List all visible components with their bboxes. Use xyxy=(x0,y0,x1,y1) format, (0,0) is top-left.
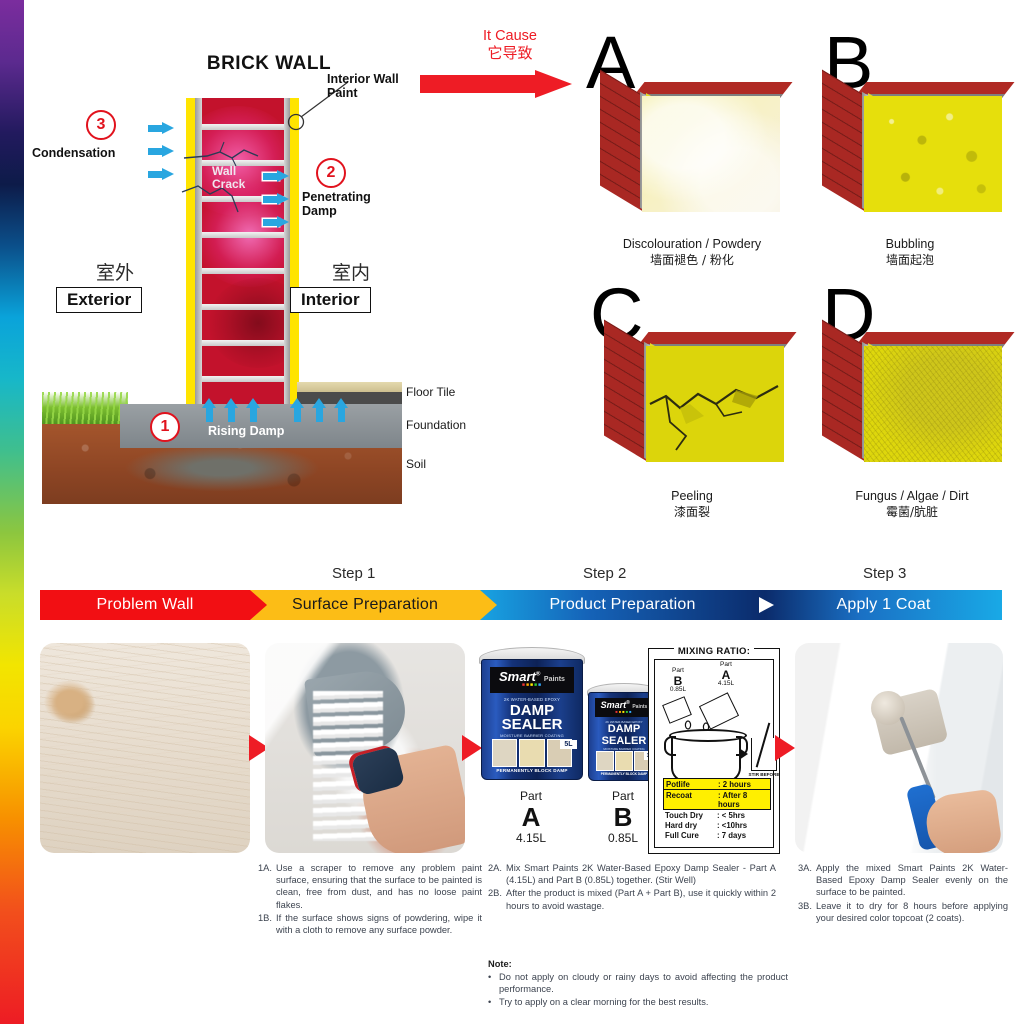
note-header: Note: xyxy=(488,958,788,970)
penetrating-damp-arrow-icon xyxy=(263,170,289,183)
part-a-label: Part A 4.15L xyxy=(497,789,565,845)
process-step-banner: Problem Wall Surface Preparation Product… xyxy=(40,590,1002,620)
mortar-line xyxy=(202,268,284,274)
defect-panel-d: D Fungus / Algae / Dirt 霉菌/肮脏 xyxy=(800,280,1024,530)
mortar-line xyxy=(202,232,284,238)
mixing-ratio-title: MIXING RATIO: xyxy=(649,641,779,659)
interior-wall-paint-label: Interior WallPaint xyxy=(327,72,417,100)
wall-face-fungus-dirt xyxy=(864,346,1002,462)
interior-label-en: Interior xyxy=(290,287,371,313)
it-cause-cn: 它导致 xyxy=(450,45,570,62)
flow-arrow-icon-3 xyxy=(775,735,795,761)
mix-part-a-label: Part A 4.15L xyxy=(709,662,743,688)
note-bullet: • Do not apply on cloudy or rainy days t… xyxy=(488,971,788,995)
table-row: Touch Dry : < 5hrs xyxy=(663,810,771,820)
mortar-line xyxy=(202,340,284,346)
interior-label-cn: 室内 xyxy=(332,258,370,285)
instruction-item: 2A. Mix Smart Paints 2K Water-Based Epox… xyxy=(488,862,776,886)
rising-damp-arrow-icon xyxy=(334,398,348,422)
wall-face-bubbling xyxy=(864,96,1002,212)
wall-block-illustration-b xyxy=(822,82,1002,212)
swatch xyxy=(596,751,613,771)
penetrating-damp-arrow-icon xyxy=(263,216,289,229)
grass-layer xyxy=(42,392,128,426)
table-row: Recoat : After 8 hours xyxy=(663,789,771,810)
wall-block-illustration-d xyxy=(822,332,1002,462)
product-bottom-text: PERMANENTLY BLOCK DAMP xyxy=(482,768,582,773)
rising-damp-arrow-icon xyxy=(290,398,304,422)
stir-jar-icon xyxy=(751,738,777,771)
table-row: Hard dry : <10hrs xyxy=(663,821,771,831)
table-row: Full Cure : 7 days xyxy=(663,831,771,841)
mixing-ratio-box: MIXING RATIO: Part B 0.85L Part A 4.15L xyxy=(648,648,780,854)
defect-caption-b: Bubbling 墙面起泡 xyxy=(800,236,1020,268)
product-subtitle: MOISTURE BARRIER COATING xyxy=(482,733,582,738)
marker-1-rising-damp: 1 xyxy=(150,412,180,442)
marker-2-penetrating-damp: 2 xyxy=(316,158,346,188)
defect-caption-c: Peeling 漆面裂 xyxy=(582,488,802,520)
wall-crack-label: WallCrack xyxy=(212,165,245,191)
banner-play-triangle-icon xyxy=(759,597,774,613)
marker-3-condensation: 3 xyxy=(86,110,116,140)
step-3-label: Step 3 xyxy=(863,565,906,582)
mortar-line xyxy=(202,124,284,130)
can-brand-band: Smart® Paints ■■■■■ xyxy=(595,698,653,717)
banner-segment-product-preparation[interactable]: Product Preparation xyxy=(480,590,765,620)
it-cause-heading: It Cause 它导致 xyxy=(450,28,570,62)
mortar-line xyxy=(202,376,284,382)
step-1-label: Step 1 xyxy=(332,565,375,582)
swatch xyxy=(615,751,632,771)
exterior-paint-layer xyxy=(186,98,195,420)
bullet-icon: • xyxy=(488,996,499,1008)
table-row: Potlife : 2 hours xyxy=(663,778,771,789)
defect-caption-a: Discolouration / Powdery 墙面褪色 / 粉化 xyxy=(582,236,802,268)
mix-flow-arrow-icon xyxy=(739,748,748,760)
product-name-line2: SEALER xyxy=(482,717,582,732)
step3-instructions: 3A. Apply the mixed Smart Paints 2K Wate… xyxy=(798,862,1008,925)
instruction-item: 1B. If the surface shows signs of powder… xyxy=(258,912,482,936)
can-volume-a: 5L xyxy=(560,740,577,749)
defect-panel-b: B Bubbling 墙面起泡 xyxy=(800,28,1020,278)
instruction-item: 3B. Leave it to dry for 8 hours before a… xyxy=(798,900,1008,924)
rising-damp-arrow-icon xyxy=(312,398,326,422)
penetrating-damp-arrow-icon xyxy=(263,193,289,206)
swatch xyxy=(519,739,544,768)
step1-instructions: 1A. Use a scraper to remove any problem … xyxy=(258,862,482,937)
defect-panel-c: C Peeling 漆面裂 xyxy=(582,280,802,530)
mixing-ratio-inner-frame: Part B 0.85L Part A 4.15L STIR BEFOREUSE xyxy=(654,659,774,848)
exterior-label-en: Exterior xyxy=(56,287,142,313)
foundation-label: Foundation xyxy=(406,418,466,432)
peeling-crack-icon xyxy=(646,346,784,462)
instruction-item: 3A. Apply the mixed Smart Paints 2K Wate… xyxy=(798,862,1008,899)
it-cause-en: It Cause xyxy=(450,28,570,45)
can-brand-band: Smart® Paints ■■■■■ xyxy=(490,667,574,693)
exterior-label-cn: 室外 xyxy=(96,258,134,285)
wall-block-illustration-c xyxy=(604,332,784,462)
wall-face-discolouration xyxy=(642,96,780,212)
rising-damp-arrow-icon xyxy=(246,398,260,422)
instruction-item: 2B. After the product is mixed (Part A +… xyxy=(488,887,776,911)
step2-instructions: 2A. Mix Smart Paints 2K Water-Based Epox… xyxy=(488,862,776,913)
banner-chevron-icon xyxy=(480,590,497,620)
instruction-item: 1A. Use a scraper to remove any problem … xyxy=(258,862,482,911)
condensation-arrow-icon xyxy=(148,122,174,135)
mortar-line xyxy=(202,304,284,310)
brick-wall-title: BRICK WALL xyxy=(204,54,334,74)
soil-label: Soil xyxy=(406,457,426,471)
rising-damp-arrow-icon xyxy=(202,398,216,422)
penetrating-damp-label: PenetratingDamp xyxy=(302,190,392,218)
wall-face-peeling xyxy=(646,346,784,462)
drying-times-table: Potlife : 2 hours Recoat : After 8 hours… xyxy=(663,778,771,841)
mix-part-b-label: Part B 0.85L xyxy=(663,668,693,694)
product-can-part-a: Smart® Paints ■■■■■ 2K WATER-BASED EPOXY… xyxy=(479,647,583,782)
rainbow-accent-strip xyxy=(0,0,24,1024)
floor-tile-layer xyxy=(297,382,402,392)
part-b-label: Part B 0.85L xyxy=(589,789,657,845)
can-body: Smart® Paints ■■■■■ 2K WATER-BASED EPOXY… xyxy=(481,659,583,780)
note-bullet: • Try to apply on a clear morning for th… xyxy=(488,996,788,1008)
damp-glow-lower xyxy=(208,278,284,368)
wall-block-illustration-a xyxy=(600,82,780,212)
cause-arrow-icon xyxy=(420,70,572,98)
banner-segment-surface-preparation[interactable]: Surface Preparation xyxy=(250,590,480,620)
mixing-bucket-icon xyxy=(671,734,741,782)
photo-problem-wall xyxy=(40,643,250,853)
defect-caption-d: Fungus / Algae / Dirt 霉菌/肮脏 xyxy=(800,488,1024,520)
floor-tile-label: Floor Tile xyxy=(406,385,455,399)
rising-damp-label: Rising Damp xyxy=(208,424,284,438)
wall-column xyxy=(186,98,300,420)
rising-damp-arrow-icon xyxy=(224,398,238,422)
swatch xyxy=(492,739,517,768)
note-block: Note: • Do not apply on cloudy or rainy … xyxy=(488,958,788,1008)
banner-segment-problem-wall[interactable]: Problem Wall xyxy=(40,590,250,620)
condensation-arrow-icon xyxy=(148,168,174,181)
brand-dots-icon: ■■■■■ xyxy=(490,682,574,688)
condensation-label: Condensation xyxy=(32,146,115,160)
banner-segment-apply-1-coat[interactable]: Apply 1 Coat xyxy=(765,590,1002,620)
condensation-arrow-icon xyxy=(148,145,174,158)
bullet-icon: • xyxy=(488,971,499,995)
interior-paint-layer xyxy=(290,98,299,420)
photo-apply-coat xyxy=(795,643,1003,853)
banner-chevron-icon xyxy=(250,590,267,620)
brand-dots-icon: ■■■■■ xyxy=(595,709,653,714)
step-2-label: Step 2 xyxy=(583,565,626,582)
brand-name: Smart® Paints xyxy=(595,700,653,710)
defect-panel-a: A Discolouration / Powdery 墙面褪色 / 粉化 xyxy=(582,28,802,278)
photo-surface-scraping xyxy=(265,643,465,853)
brick-core xyxy=(202,98,284,420)
exterior-render-layer xyxy=(195,98,202,420)
